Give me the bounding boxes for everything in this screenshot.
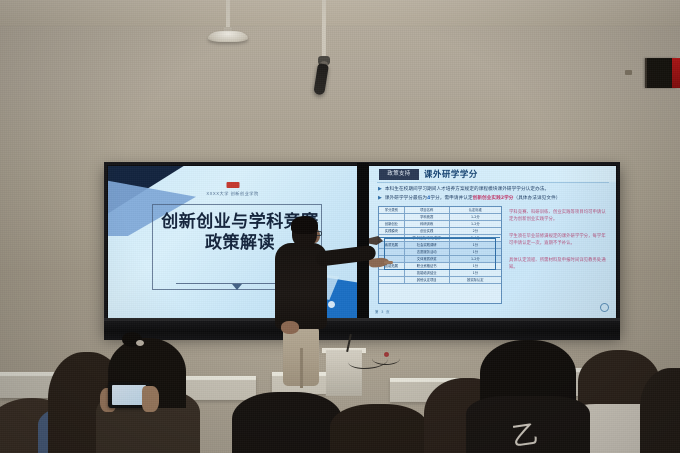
- left-slide-dot-icon: [328, 301, 335, 308]
- wall-scuff: [625, 70, 632, 75]
- display-bezel-sheen: [104, 318, 620, 321]
- table-cell: 认定标准: [450, 207, 501, 213]
- presenter-hair: [291, 216, 318, 234]
- table-cell: 1-2分: [450, 214, 501, 220]
- table-row: 学分类别项目名称认定标准: [379, 207, 501, 214]
- table-cell: 项目名称: [405, 207, 450, 213]
- left-slide-subtitle: XXXX大学 创新创业学院: [206, 191, 258, 197]
- ceiling-light-disc-icon: [208, 31, 248, 42]
- table-cell: 1分: [450, 270, 501, 276]
- screenshot-root: XXXX大学 创新创业学院 创新创业与学科竞赛 政策解读 政策支持 课外研学学分…: [0, 0, 680, 453]
- right-slide-heading: 课外研学学分: [424, 168, 478, 180]
- presenter-finger: [384, 261, 393, 264]
- right-slide-bullet-list: ▶本科生在校期间学习期间人才培养方案规定的课程模块课外研学学分认定办法。▶课外研…: [378, 186, 610, 204]
- table-cell: 按实际认定: [450, 277, 501, 283]
- table-cell: 实践模块: [379, 228, 405, 234]
- right-slide-watermark-icon: [600, 303, 609, 312]
- table-cell: 技能培训结业: [405, 270, 450, 276]
- right-slide-note: 学生须在毕业前修满规定的课外研学学分，每学年可申请认定一次，逾期不予补认。: [509, 234, 609, 247]
- ceiling: [0, 0, 680, 26]
- right-slide-note-text: 具体认定流程、所需材料及申报时间详见教务处通知。: [509, 258, 609, 271]
- left-slide-logo-icon: [226, 182, 239, 188]
- display-panel-right[interactable]: 政策支持 课外研学学分 ▶本科生在校期间学习期间人才培养方案规定的课程模块课外研…: [369, 166, 616, 318]
- right-slide-bullet: ▶课外研学学分最低为4学分，需申请并认定创新创业实践2学分（具体办法详见文件）: [378, 195, 610, 202]
- presenter-leg-gap: [300, 348, 303, 388]
- table-cell: 其他认定项目: [405, 277, 450, 283]
- table-cell: 学分类别: [379, 207, 405, 213]
- right-slide-header-rule: [377, 182, 609, 183]
- cable-connector-icon: [384, 352, 389, 357]
- table-cell: 创新创业: [379, 221, 405, 227]
- right-slide-note: 具体认定流程、所需材料及申报时间详见教务处通知。: [509, 258, 609, 271]
- table-cell: 科研训练: [405, 221, 450, 227]
- bullet-arrow-icon: ▶: [378, 195, 382, 202]
- jacket-graphic: 乙: [510, 415, 554, 453]
- table-cell: [379, 277, 405, 283]
- right-slide-badge: 政策支持: [379, 169, 419, 180]
- right-slide-note-text: 学科竞赛、科研训练、创业实践等项目均可申请认定为创新创业实践学分。: [509, 210, 609, 223]
- table-cell: 2分: [450, 228, 501, 234]
- right-slide-footer-mark: 第 3 页: [375, 309, 391, 314]
- wall-panel-accent: [672, 58, 680, 88]
- audience-member: [232, 392, 342, 453]
- table-row: 实践模块创业实践2分: [379, 228, 501, 235]
- smartphone-screen[interactable]: [112, 385, 146, 405]
- desk-edge: [182, 376, 256, 380]
- right-slide-note-text: 学生须在毕业前修满规定的课外研学学分，每学年可申请认定一次，逾期不予补认。: [509, 234, 609, 247]
- ceiling-camera-pole: [322, 0, 326, 58]
- chevron-down-icon: [232, 284, 242, 290]
- right-slide-notes: 学科竞赛、科研训练、创业实践等项目均可申请认定为创新创业实践学分。学生须在毕业前…: [509, 210, 609, 283]
- table-cell: 1-2分: [450, 221, 501, 227]
- table-row: 创新创业科研训练1-2分: [379, 221, 501, 228]
- hair-clip-icon: [136, 340, 144, 346]
- table-cell: 创业实践: [405, 228, 450, 234]
- audience-hand-right: [142, 386, 159, 412]
- right-slide-bullet-text: 本科生在校期间学习期间人才培养方案规定的课程模块课外研学学分认定办法。: [385, 186, 549, 193]
- table-cell: [379, 214, 405, 220]
- table-cell: [379, 270, 405, 276]
- audience-member: [330, 404, 428, 453]
- table-row: 学科竞赛1-2分: [379, 214, 501, 221]
- right-slide-bullet-text: 课外研学学分最低为4学分，需申请并认定创新创业实践2学分（具体办法详见文件）: [385, 195, 561, 202]
- bullet-arrow-icon: ▶: [378, 186, 382, 193]
- presenter-resting-hand: [281, 321, 299, 334]
- right-slide-bullet: ▶本科生在校期间学习期间人才培养方案规定的课程模块课外研学学分认定办法。: [378, 186, 610, 193]
- right-slide-table-highlight-box: [384, 238, 496, 270]
- table-row: 其他认定项目按实际认定: [379, 277, 501, 284]
- table-cell: 学科竞赛: [405, 214, 450, 220]
- display-bottom-bezel: [104, 318, 620, 340]
- table-row: 技能培训结业1分: [379, 270, 501, 277]
- display-panel-divider: [357, 163, 369, 321]
- right-slide-note: 学科竞赛、科研训练、创业实践等项目均可申请认定为创新创业实践学分。: [509, 210, 609, 223]
